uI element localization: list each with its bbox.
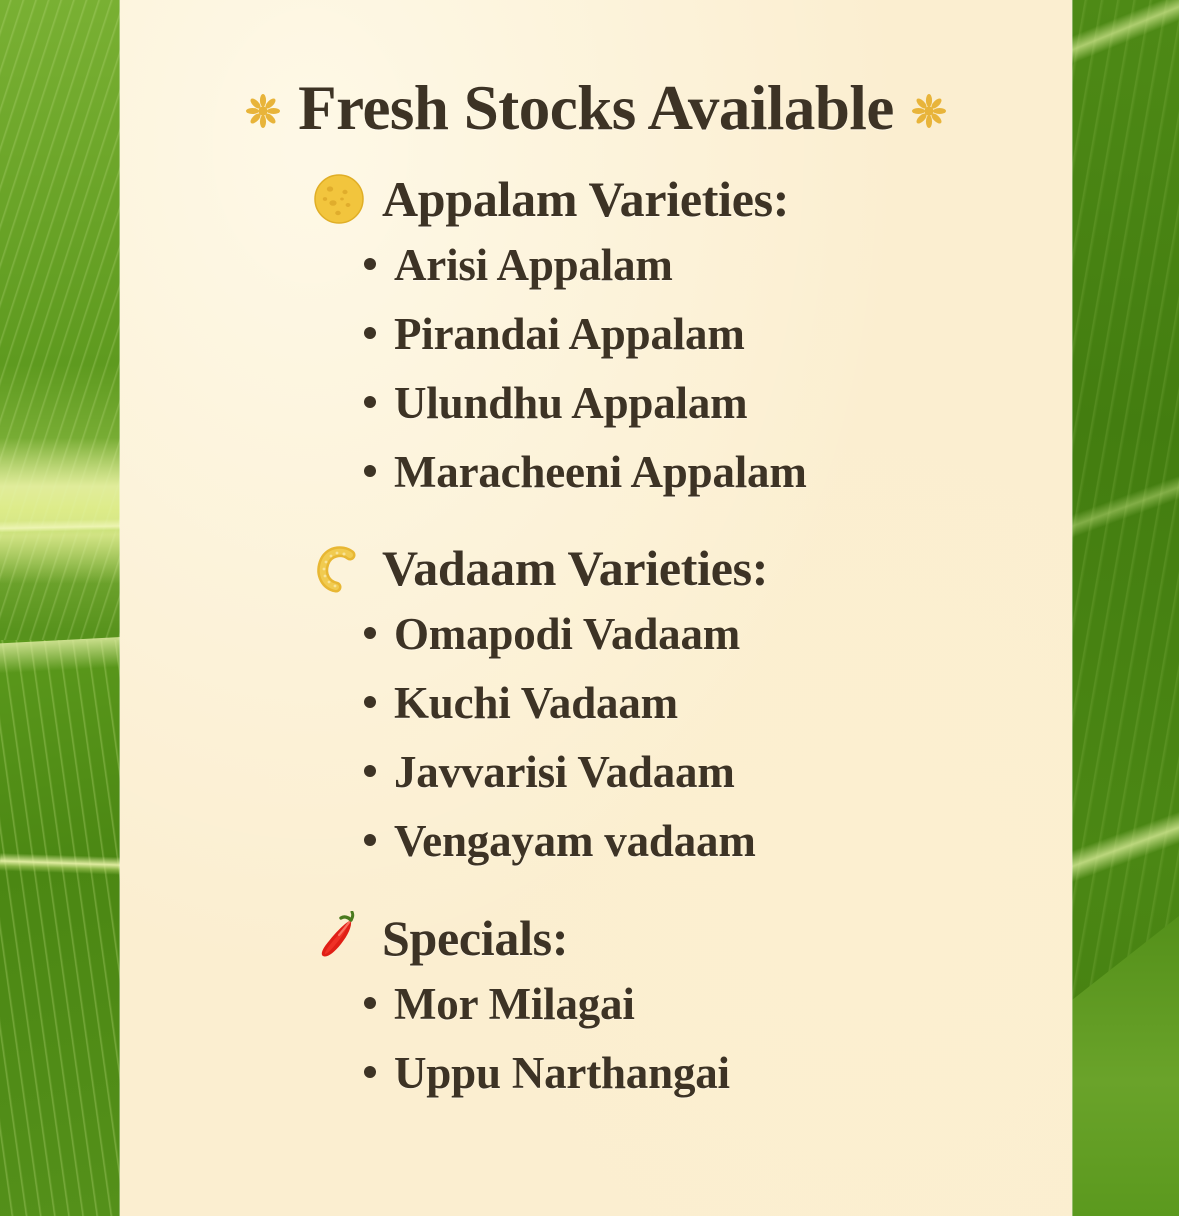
list-item: Ulundhu Appalam (364, 369, 1028, 438)
section-appalam-items: Arisi Appalam Pirandai Appalam Ulundhu A… (312, 231, 1028, 506)
list-item-label: Arisi Appalam (394, 231, 673, 300)
section-appalam: Appalam Varieties: Arisi Appalam Piranda… (312, 171, 1028, 506)
leaf-midrib-upper (0, 519, 125, 538)
list-item: Uppu Narthangai (364, 1039, 1028, 1108)
list-item: Omapodi Vadaam (364, 600, 1028, 669)
list-item-label: Ulundhu Appalam (394, 369, 747, 438)
section-vadaam-items: Omapodi Vadaam Kuchi Vadaam Javvarisi Va… (312, 600, 1028, 875)
bullet-icon (364, 997, 376, 1009)
section-vadaam-header: Vadaam Varieties: (312, 540, 1028, 596)
bullet-icon (364, 327, 376, 339)
list-item-label: Kuchi Vadaam (394, 669, 678, 738)
section-spacer (312, 884, 1028, 910)
section-appalam-title: Appalam Varieties: (382, 171, 789, 227)
poster-title-row: Fresh Stocks Available (164, 0, 1028, 145)
list-item: Javvarisi Vadaam (364, 738, 1028, 807)
list-item-label: Vengayam vadaam (394, 807, 756, 876)
section-specials-title: Specials: (382, 910, 568, 966)
list-item-label: Mor Milagai (394, 970, 635, 1039)
red-chili-pepper-icon (312, 911, 366, 965)
list-item-label: Uppu Narthangai (394, 1039, 730, 1108)
section-spacer (312, 514, 1028, 540)
bullet-icon (364, 765, 376, 777)
bullet-icon (364, 627, 376, 639)
section-appalam-header: Appalam Varieties: (312, 171, 1028, 227)
appalam-disc-icon (312, 172, 366, 226)
bullet-icon (364, 834, 376, 846)
list-item: Vengayam vadaam (364, 807, 1028, 876)
bullet-icon (364, 396, 376, 408)
sparkle-asterisk-icon-left (246, 94, 280, 128)
bullet-icon (364, 696, 376, 708)
list-item: Pirandai Appalam (364, 300, 1028, 369)
page-title: Fresh Stocks Available (298, 72, 894, 145)
stock-list-card: Fresh Stocks Available (120, 0, 1072, 1216)
list-item: Kuchi Vadaam (364, 669, 1028, 738)
section-specials: Specials: Mor Milagai Uppu Narthangai (312, 910, 1028, 1108)
list-item: Maracheeni Appalam (364, 438, 1028, 507)
vadaam-curl-icon (312, 541, 366, 595)
list-item-label: Pirandai Appalam (394, 300, 745, 369)
sparkle-asterisk-icon-right (912, 94, 946, 128)
list-item-label: Javvarisi Vadaam (394, 738, 735, 807)
list-item: Mor Milagai (364, 970, 1028, 1039)
list-item-label: Omapodi Vadaam (394, 600, 740, 669)
bullet-icon (364, 258, 376, 270)
section-specials-header: Specials: (312, 910, 1028, 966)
bullet-icon (364, 1066, 376, 1078)
list-item: Arisi Appalam (364, 231, 1028, 300)
section-vadaam-title: Vadaam Varieties: (382, 540, 768, 596)
section-specials-items: Mor Milagai Uppu Narthangai (312, 970, 1028, 1108)
bullet-icon (364, 465, 376, 477)
list-item-label: Maracheeni Appalam (394, 438, 807, 507)
stock-sections: Appalam Varieties: Arisi Appalam Piranda… (164, 145, 1028, 1107)
leaf-left-lower-panel (0, 640, 125, 1216)
section-vadaam: Vadaam Varieties: Omapodi Vadaam Kuchi V… (312, 540, 1028, 875)
